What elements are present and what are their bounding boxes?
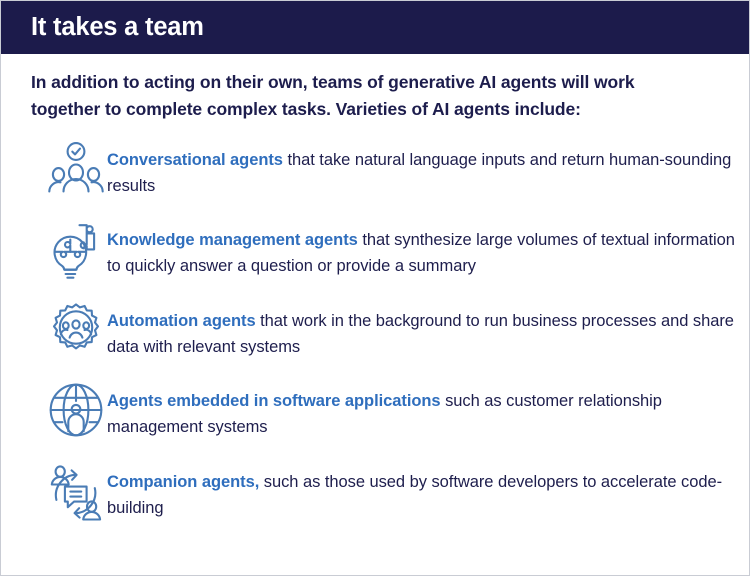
gear-people-icon <box>45 301 107 359</box>
list-item: Knowledge management agents that synthes… <box>45 220 735 279</box>
agent-term: Knowledge management agents <box>107 231 358 249</box>
people-chat-cycle-icon <box>45 462 107 520</box>
intro-paragraph: In addition to acting on their own, team… <box>31 69 691 122</box>
list-item: Automation agents that work in the backg… <box>45 301 735 360</box>
list-item-text: Conversational agents that take natural … <box>107 139 735 199</box>
slide: It takes a team In addition to acting on… <box>0 0 750 576</box>
list-item: Agents embedded in software applications… <box>45 381 735 440</box>
list-item: Companion agents, such as those used by … <box>45 462 735 521</box>
agent-term: Companion agents, <box>107 473 259 491</box>
list-item-text: Knowledge management agents that synthes… <box>107 220 735 279</box>
globe-person-icon <box>45 381 107 439</box>
people-group-check-icon <box>45 139 107 197</box>
lightbulb-puzzle-icon <box>45 220 107 278</box>
agent-term: Agents embedded in software applications <box>107 392 441 410</box>
agent-type-list: Conversational agents that take natural … <box>45 139 735 521</box>
agent-term: Automation agents <box>107 312 256 330</box>
list-item-text: Automation agents that work in the backg… <box>107 301 735 360</box>
page-title: It takes a team <box>31 15 204 41</box>
header-bar: It takes a team <box>1 1 750 54</box>
list-item-text: Agents embedded in software applications… <box>107 381 735 440</box>
list-item-text: Companion agents, such as those used by … <box>107 462 735 521</box>
list-item: Conversational agents that take natural … <box>45 139 735 199</box>
agent-term: Conversational agents <box>107 151 283 169</box>
